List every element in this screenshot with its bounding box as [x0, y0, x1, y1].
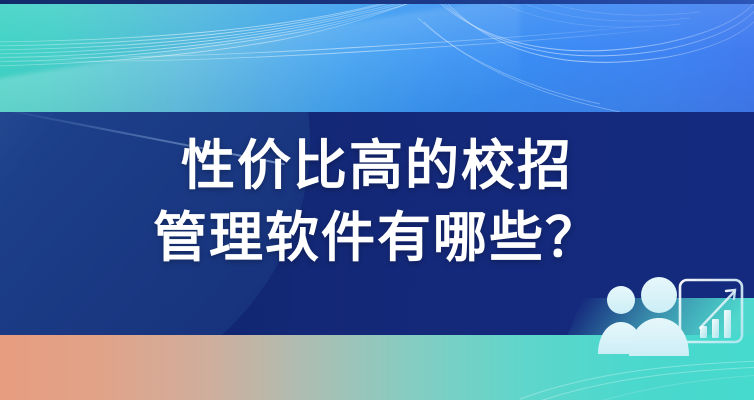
icon-svg — [596, 276, 748, 356]
title-line-2: 管理软件有哪些？ — [0, 202, 754, 274]
top-gradient-band — [0, 0, 754, 118]
top-wave-lines-svg — [0, 0, 754, 118]
people-presentation-chart-icon — [596, 276, 748, 356]
presentation-board — [680, 280, 742, 342]
poster-title: 性价比高的校招 管理软件有哪些？ — [0, 130, 754, 274]
top-edge-sliver — [0, 0, 754, 4]
title-line-1: 性价比高的校招 — [181, 136, 573, 196]
poster-canvas: 性价比高的校招 管理软件有哪些？ — [0, 0, 754, 400]
